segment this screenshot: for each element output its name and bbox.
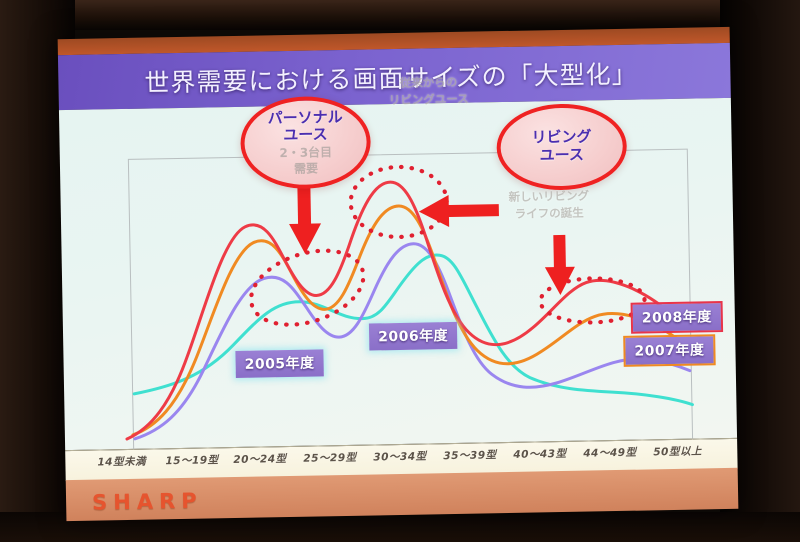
x-axis-tick-0: 14型未満 — [97, 454, 146, 470]
annotation-new-living: 新しいリビング ライフの誕生 — [508, 187, 589, 222]
legend-chip-2008[interactable]: 2008年度 — [631, 301, 724, 334]
arrow-personal-use — [288, 187, 321, 254]
sharp-logo: SHARP — [92, 489, 203, 515]
series-line-2007 — [129, 201, 679, 435]
x-axis-tick-8: 50型以上 — [653, 443, 702, 459]
demand-curve-chart — [59, 98, 737, 455]
highlight-ellipse-legacy-living — [350, 166, 447, 238]
room-ceiling — [0, 0, 800, 30]
highlight-ellipse-personal-use — [242, 237, 373, 338]
annotation-legacy-living-line1: 従来からの — [388, 74, 468, 92]
annotation-new-living-line2: ライフの誕生 — [509, 204, 590, 222]
x-axis-tick-3: 25～29型 — [303, 450, 357, 466]
screenshot-stage: 世界需要における画面サイズの「大型化」 — [0, 0, 800, 542]
annotation-legacy-living-line2: リビングユース — [389, 90, 469, 108]
annotation-legacy-living: 従来からの リビングユース — [388, 74, 469, 109]
x-axis-tick-6: 40～43型 — [513, 446, 567, 462]
x-axis-tick-5: 35～39型 — [443, 447, 497, 463]
callout-personal-line1: パーソナル — [267, 109, 342, 128]
arrow-living-use — [419, 194, 500, 227]
x-axis-tick-2: 20～24型 — [233, 451, 287, 467]
callout-personal-sub2: 需要 — [294, 162, 318, 176]
callout-personal-sub1: 2・3台目 — [279, 146, 332, 161]
projected-slide: 世界需要における画面サイズの「大型化」 — [58, 27, 739, 521]
x-axis-tick-1: 15～19型 — [165, 452, 219, 468]
callout-personal-line2: ユース — [283, 126, 328, 144]
x-axis-tick-4: 30～34型 — [373, 449, 427, 465]
x-axis-tick-7: 44～49型 — [583, 445, 637, 461]
series-line-2008 — [122, 177, 677, 439]
annotation-new-living-line1: 新しいリビング — [508, 187, 589, 205]
legend-chip-2005[interactable]: 2005年度 — [235, 349, 323, 378]
legend-chip-2007[interactable]: 2007年度 — [623, 334, 716, 367]
legend-chip-2006[interactable]: 2006年度 — [369, 322, 457, 351]
arrow-new-living — [544, 235, 575, 296]
callout-living-line2: ユース — [540, 147, 585, 165]
